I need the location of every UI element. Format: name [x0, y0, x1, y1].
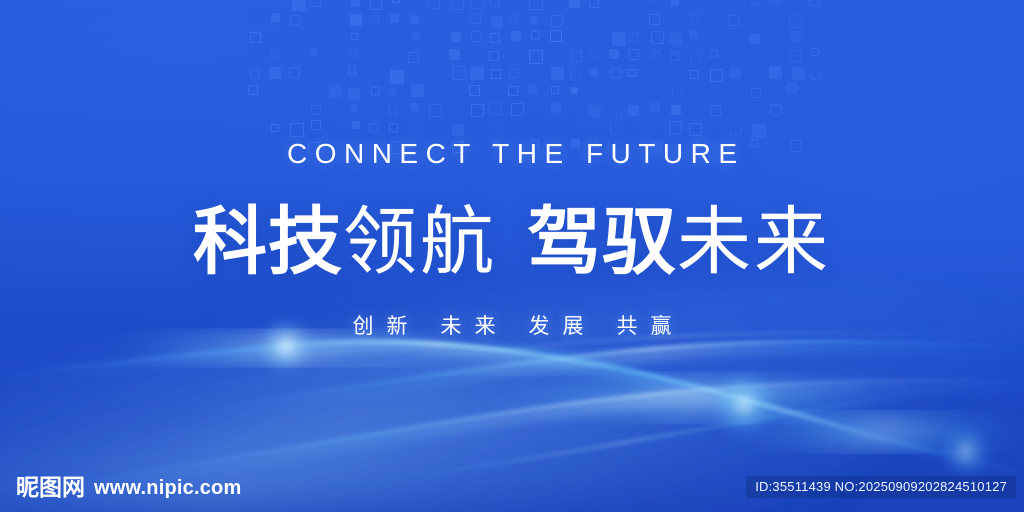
mosaic-square	[529, 50, 543, 64]
headline-segment-weilai: 未来	[677, 202, 831, 282]
mosaic-square	[752, 124, 766, 138]
mosaic-square	[388, 87, 396, 95]
mosaic-square	[551, 15, 563, 27]
asset-id-badge: ID:35511439 NO:20250909202824510127	[746, 476, 1016, 498]
mosaic-square	[669, 121, 682, 134]
mosaic-square	[690, 52, 700, 62]
mosaic-square	[411, 103, 419, 111]
mosaic-square	[411, 84, 424, 97]
mosaic-square	[349, 50, 357, 58]
brand-url: www.nipic.com	[94, 478, 241, 498]
mosaic-square	[289, 87, 298, 96]
mosaic-square	[529, 0, 543, 10]
mosaic-square	[350, 104, 358, 112]
headline-segment-keji: 科技	[193, 202, 343, 282]
mosaic-square	[729, 67, 741, 79]
mosaic-square	[689, 30, 698, 39]
mosaic-square	[749, 49, 761, 61]
mosaic-square	[710, 105, 721, 116]
mosaic-square	[730, 34, 742, 46]
mosaic-square	[572, 13, 580, 21]
subline-word-chuangxin: 创新	[353, 315, 421, 338]
subline-word-weilai: 未来	[441, 315, 509, 338]
mosaic-square	[489, 51, 499, 61]
mosaic-square	[271, 13, 280, 22]
mosaic-square	[590, 69, 598, 77]
mosaic-square	[309, 48, 317, 56]
mosaic-square	[390, 70, 404, 84]
mosaic-square	[250, 69, 260, 79]
mosaic-square	[491, 16, 503, 28]
mosaic-square	[248, 85, 258, 95]
mosaic-square	[528, 85, 537, 94]
sub-headline: 创新未来发展共赢	[0, 310, 1024, 340]
mosaic-square	[511, 31, 521, 41]
mosaic-square	[651, 31, 664, 44]
mosaic-square	[390, 14, 399, 23]
mosaic-square	[448, 104, 460, 116]
mosaic-square	[589, 0, 599, 8]
mosaic-square	[292, 0, 306, 11]
mosaic-square	[431, 69, 440, 78]
mosaic-square	[628, 49, 639, 60]
mosaic-square	[249, 14, 260, 25]
mosaic-square	[728, 15, 739, 26]
mosaic-square	[292, 104, 299, 111]
mosaic-square	[269, 67, 281, 79]
mosaic-square	[410, 123, 422, 135]
mosaic-square	[689, 123, 702, 136]
mosaic-square	[590, 51, 598, 59]
mosaic-square	[569, 0, 580, 8]
mosaic-square	[489, 103, 501, 115]
headline-segment-jiayu: 驾驭	[527, 202, 677, 282]
mosaic-square	[690, 70, 699, 79]
mosaic-square	[570, 68, 580, 78]
mosaic-square	[452, 66, 466, 80]
mosaic-square	[751, 88, 761, 98]
mosaic-square	[491, 120, 504, 133]
mosaic-square	[652, 51, 660, 59]
mosaic-square	[809, 0, 820, 6]
mosaic-square	[331, 105, 341, 115]
mosaic-square	[610, 122, 623, 135]
mosaic-square	[329, 85, 342, 98]
brand-name-cn: 昵图网	[16, 476, 85, 499]
mosaic-square	[271, 124, 279, 132]
mosaic-square	[248, 121, 256, 129]
mosaic-square	[351, 0, 360, 7]
mosaic-square	[649, 14, 660, 25]
digital-mosaic-pattern	[248, 0, 828, 154]
mosaic-square	[370, 0, 382, 10]
mosaic-square	[470, 13, 481, 24]
mosaic-square	[571, 87, 578, 94]
mosaic-square	[789, 14, 803, 28]
mosaic-square	[590, 85, 603, 98]
mosaic-square	[491, 69, 501, 79]
mosaic-square	[751, 0, 759, 4]
mosaic-square	[490, 0, 500, 7]
mosaic-square	[330, 51, 340, 61]
mosaic-square	[351, 33, 358, 40]
mosaic-square	[511, 48, 522, 59]
mosaic-square	[470, 66, 484, 80]
mosaic-square	[309, 0, 321, 7]
mosaic-square	[710, 69, 723, 82]
mosaic-square	[588, 105, 601, 118]
mosaic-square	[628, 105, 639, 116]
mosaic-square	[452, 124, 464, 136]
mosaic-square	[510, 13, 518, 21]
mosaic-square	[769, 0, 781, 6]
mosaic-square	[712, 84, 720, 92]
mosaic-square	[669, 32, 682, 45]
headline-segment-linghang: 领航	[343, 202, 497, 282]
mosaic-square	[311, 105, 321, 115]
mosaic-square	[792, 67, 805, 80]
mosaic-square	[609, 49, 619, 59]
english-headline: CONNECT THE FUTURE	[0, 140, 1024, 168]
mosaic-square	[271, 102, 278, 109]
mosaic-square	[290, 123, 304, 137]
mosaic-square	[672, 87, 682, 97]
mosaic-square	[332, 31, 341, 40]
mosaic-square	[289, 67, 300, 78]
mosaic-square	[750, 34, 760, 44]
mosaic-square	[551, 103, 561, 113]
mosaic-square	[348, 88, 360, 100]
mosaic-square	[651, 0, 659, 3]
mosaic-square	[372, 15, 379, 22]
mosaic-square	[651, 121, 659, 129]
mosaic-square	[710, 50, 718, 58]
mosaic-square	[388, 106, 397, 115]
mosaic-square	[471, 31, 482, 42]
mosaic-square	[350, 14, 362, 26]
mosaic-square	[789, 50, 801, 62]
mosaic-square	[451, 0, 464, 10]
mosaic-square	[528, 105, 535, 112]
mosaic-square	[689, 0, 702, 11]
mosaic-square	[671, 105, 681, 115]
mosaic-square	[769, 66, 782, 79]
mosaic-square	[612, 32, 626, 46]
subline-word-gongying: 共赢	[617, 315, 685, 338]
mosaic-square	[671, 0, 679, 6]
mosaic-square	[790, 31, 801, 42]
mosaic-square	[550, 30, 562, 42]
mosaic-square	[449, 49, 460, 60]
mosaic-square	[389, 123, 398, 132]
mosaic-square	[250, 32, 261, 43]
mosaic-square	[471, 104, 484, 117]
mosaic-square	[611, 68, 621, 78]
mosaic-square	[671, 52, 680, 61]
mosaic-square	[511, 103, 524, 116]
mosaic-square	[629, 33, 638, 42]
mosaic-square	[788, 84, 796, 92]
mosaic-square	[770, 104, 782, 116]
mosaic-square	[768, 52, 776, 60]
mosaic-square	[509, 68, 519, 78]
mosaic-square	[571, 51, 582, 62]
mosaic-square	[470, 0, 484, 9]
mosaic-square	[531, 31, 540, 40]
mosaic-square	[649, 102, 660, 113]
mosaic-square	[551, 86, 559, 94]
subline-word-fazhan: 发展	[529, 315, 597, 338]
mosaic-square	[490, 33, 500, 43]
mosaic-square	[530, 16, 538, 24]
mosaic-square	[290, 15, 300, 25]
mosaic-square	[811, 48, 819, 56]
mosaic-square	[551, 67, 564, 80]
mosaic-square	[609, 106, 622, 119]
mosaic-square	[291, 49, 298, 56]
mosaic-square	[531, 121, 541, 131]
mosaic-square	[371, 87, 380, 96]
mosaic-square	[451, 32, 461, 42]
mosaic-square	[712, 31, 721, 40]
mosaic-square	[730, 123, 742, 135]
mosaic-square	[710, 0, 722, 10]
mosaic-square	[469, 85, 480, 96]
mosaic-square	[412, 32, 420, 40]
mosaic-square	[429, 104, 442, 117]
watermark-brand: 昵图网 www.nipic.com	[16, 476, 241, 499]
mosaic-square	[651, 69, 658, 76]
mosaic-square	[308, 66, 315, 73]
mosaic-square	[311, 120, 321, 130]
mosaic-square	[508, 86, 518, 96]
mosaic-square	[410, 15, 419, 24]
mosaic-square	[628, 69, 636, 77]
mosaic-square	[271, 51, 279, 59]
mosaic-square	[408, 52, 419, 63]
mosaic-square	[811, 70, 821, 80]
mosaic-square	[392, 0, 400, 3]
mosaic-square	[691, 13, 699, 21]
mosaic-square	[369, 123, 378, 132]
mosaic-square	[348, 67, 356, 75]
mosaic-square	[428, 0, 440, 9]
chinese-headline: 科技领航驾驭未来	[0, 202, 1024, 282]
banner-canvas: CONNECT THE FUTURE 科技领航驾驭未来 创新未来发展共赢 昵图网…	[0, 0, 1024, 512]
mosaic-square	[352, 121, 360, 129]
